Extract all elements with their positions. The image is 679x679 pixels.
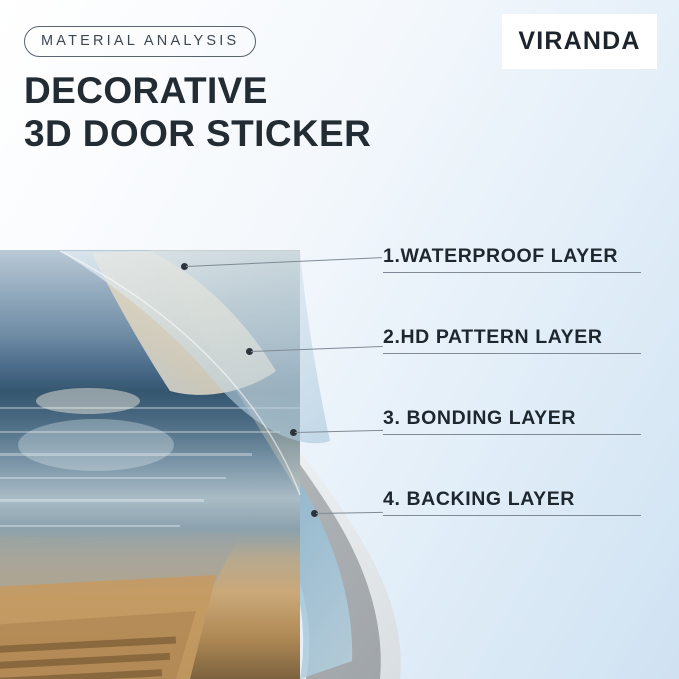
callout-label-2: 2.HD PATTERN LAYER [383, 326, 603, 349]
callout-leader-2 [251, 346, 383, 352]
callout-label-4: 4. BACKING LAYER [383, 488, 575, 511]
callout-label-3: 3. BONDING LAYER [383, 407, 576, 430]
callout-underline-3 [383, 434, 641, 435]
callout-leader-1 [186, 257, 382, 267]
callout-underline-1 [383, 272, 641, 273]
callout-leader-3 [295, 430, 383, 433]
callout-label-1: 1.WATERPROOF LAYER [383, 245, 618, 268]
callout-group: 1.WATERPROOF LAYER 2.HD PATTERN LAYER 3.… [0, 0, 679, 679]
poster-canvas: MATERIAL ANALYSIS DECORATIVE 3D DOOR STI… [0, 0, 679, 679]
callout-underline-2 [383, 353, 641, 354]
callout-underline-4 [383, 515, 641, 516]
callout-leader-4 [316, 512, 383, 514]
